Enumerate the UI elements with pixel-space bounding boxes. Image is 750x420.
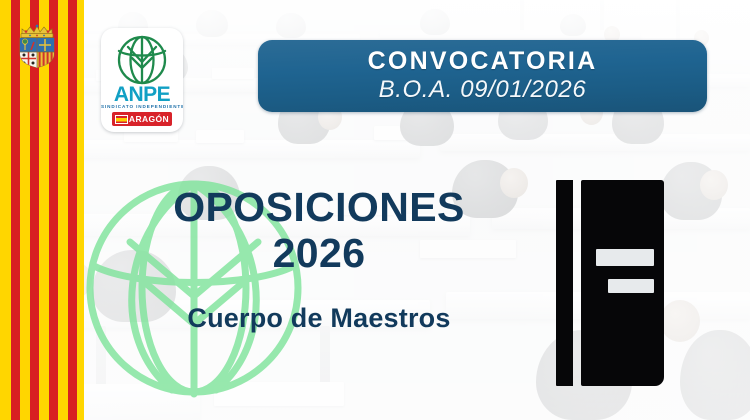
book-label-band-bottom xyxy=(608,279,654,293)
headline-block: OPOSICIONES 2026 Cuerpo de Maestros xyxy=(96,186,542,334)
poster-canvas: ANPE SINDICATO INDEPENDIENTE ARAGÓN CONV… xyxy=(0,0,750,420)
anpe-globe-icon xyxy=(110,33,174,85)
flag-stripe-yellow xyxy=(77,0,84,420)
anpe-tagline: SINDICATO INDEPENDIENTE xyxy=(101,104,183,109)
flag-stripe-red xyxy=(68,0,77,420)
anpe-globe-logo xyxy=(110,33,174,85)
spain-flag-icon xyxy=(115,115,128,124)
flag-stripe-yellow xyxy=(0,0,11,420)
book-spine xyxy=(556,180,573,386)
anpe-region-label: ARAGÓN xyxy=(128,115,172,124)
anpe-logo-card[interactable]: ANPE SINDICATO INDEPENDIENTE ARAGÓN xyxy=(101,28,183,132)
anpe-wordmark: ANPE xyxy=(101,84,183,105)
coat-of-arms-icon xyxy=(13,22,61,68)
headline-oposiciones: OPOSICIONES xyxy=(96,186,542,229)
headline-cuerpo: Cuerpo de Maestros xyxy=(96,304,542,334)
book-label-band-top xyxy=(596,249,654,266)
banner-title: CONVOCATORIA xyxy=(368,48,598,74)
banner-subtitle: B.O.A. 09/01/2026 xyxy=(379,76,587,104)
anpe-region-band: ARAGÓN xyxy=(112,112,172,126)
headline-year: 2026 xyxy=(96,229,542,277)
book-icon xyxy=(556,180,664,386)
aragon-coat-of-arms xyxy=(13,22,61,68)
convocatoria-banner[interactable]: CONVOCATORIA B.O.A. 09/01/2026 xyxy=(258,40,707,112)
